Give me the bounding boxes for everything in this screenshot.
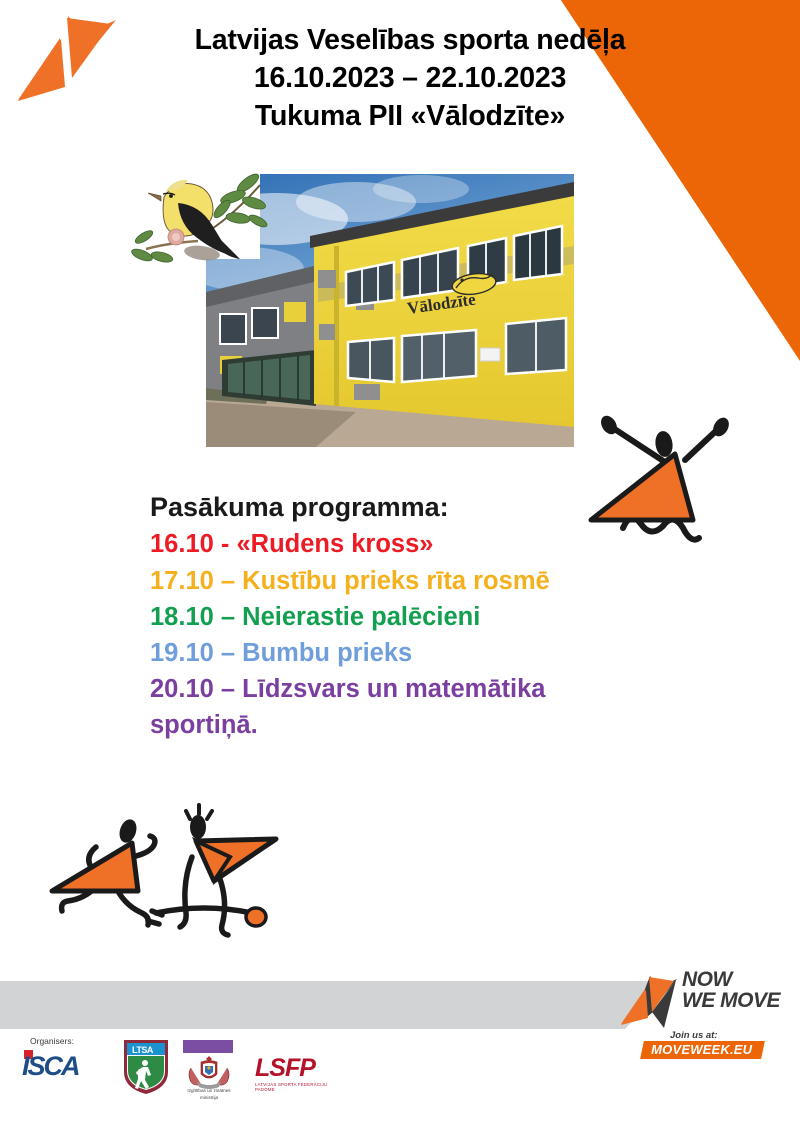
two-figures-with-ball-illustration bbox=[44, 795, 294, 945]
now-we-move-arrow-mark-icon bbox=[12, 8, 124, 110]
isca-logo: ISCA bbox=[22, 1046, 110, 1078]
programme-block: Pasākuma programma: 16.10 - «Rudens kros… bbox=[150, 488, 620, 744]
ball-icon bbox=[246, 908, 266, 926]
footer-grey-band bbox=[0, 981, 672, 1029]
programme-item-3: 18.10 – Neierastie palēcieni bbox=[150, 599, 620, 635]
nwm-line-now: NOW bbox=[682, 970, 780, 991]
now-we-move-footer-lockup: NOW WE MOVE Join us at: MOVEWEEK.EU bbox=[618, 968, 794, 1060]
programme-heading: Pasākuma programma: bbox=[150, 488, 620, 526]
ministry-purple-bar bbox=[183, 1040, 233, 1053]
poster-canvas: Latvijas Veselības sporta nedēļa 16.10.2… bbox=[0, 0, 800, 1131]
lsfp-caption: LATVIJAS SPORTA FEDERĀCIJU PADOME bbox=[255, 1082, 335, 1092]
lsfp-logo: LSFP LATVIJAS SPORTA FEDERĀCIJU PADOME bbox=[255, 1056, 335, 1090]
programme-item-1: 16.10 - «Rudens kross» bbox=[150, 526, 620, 562]
now-we-move-arrow-mark-icon bbox=[618, 972, 680, 1030]
title-line-2: 16.10.2023 – 22.10.2023 bbox=[150, 60, 670, 98]
join-us-label: Join us at: bbox=[670, 1030, 718, 1041]
lssa-logo: LTSA bbox=[122, 1038, 170, 1096]
ministry-of-education-and-science-logo: Izglītības un zinātnes ministrija bbox=[183, 1040, 235, 1106]
organisers-label: Organisers: bbox=[30, 1036, 74, 1046]
title-line-3: Tukuma PII «Vālodzīte» bbox=[150, 98, 670, 136]
moveweek-url-badge[interactable]: MOVEWEEK.EU bbox=[640, 1041, 765, 1059]
organisers-row: Organisers: ISCA LTSA bbox=[0, 1034, 420, 1118]
title-line-1: Latvijas Veselības sporta nedēļa bbox=[150, 22, 670, 60]
ministry-caption: Izglītības un zinātnes ministrija bbox=[179, 1088, 239, 1101]
oriole-bird-illustration bbox=[130, 163, 295, 285]
moveweek-url-text: MOVEWEEK.EU bbox=[651, 1042, 752, 1057]
svg-text:LTSA: LTSA bbox=[132, 1045, 154, 1055]
lsfp-wordmark: LSFP bbox=[255, 1056, 335, 1081]
now-we-move-wordmark: NOW WE MOVE bbox=[682, 970, 780, 1011]
programme-item-2: 17.10 – Kustību prieks rīta rosmē bbox=[150, 563, 620, 599]
nwm-line-wemove: WE MOVE bbox=[682, 991, 780, 1012]
programme-item-4: 19.10 – Bumbu prieks bbox=[150, 635, 620, 671]
svg-text:ISCA: ISCA bbox=[22, 1051, 79, 1078]
poster-title: Latvijas Veselības sporta nedēļa 16.10.2… bbox=[150, 22, 670, 136]
programme-item-5: 20.10 – Līdzsvars un matemātika sportiņā… bbox=[150, 671, 620, 743]
